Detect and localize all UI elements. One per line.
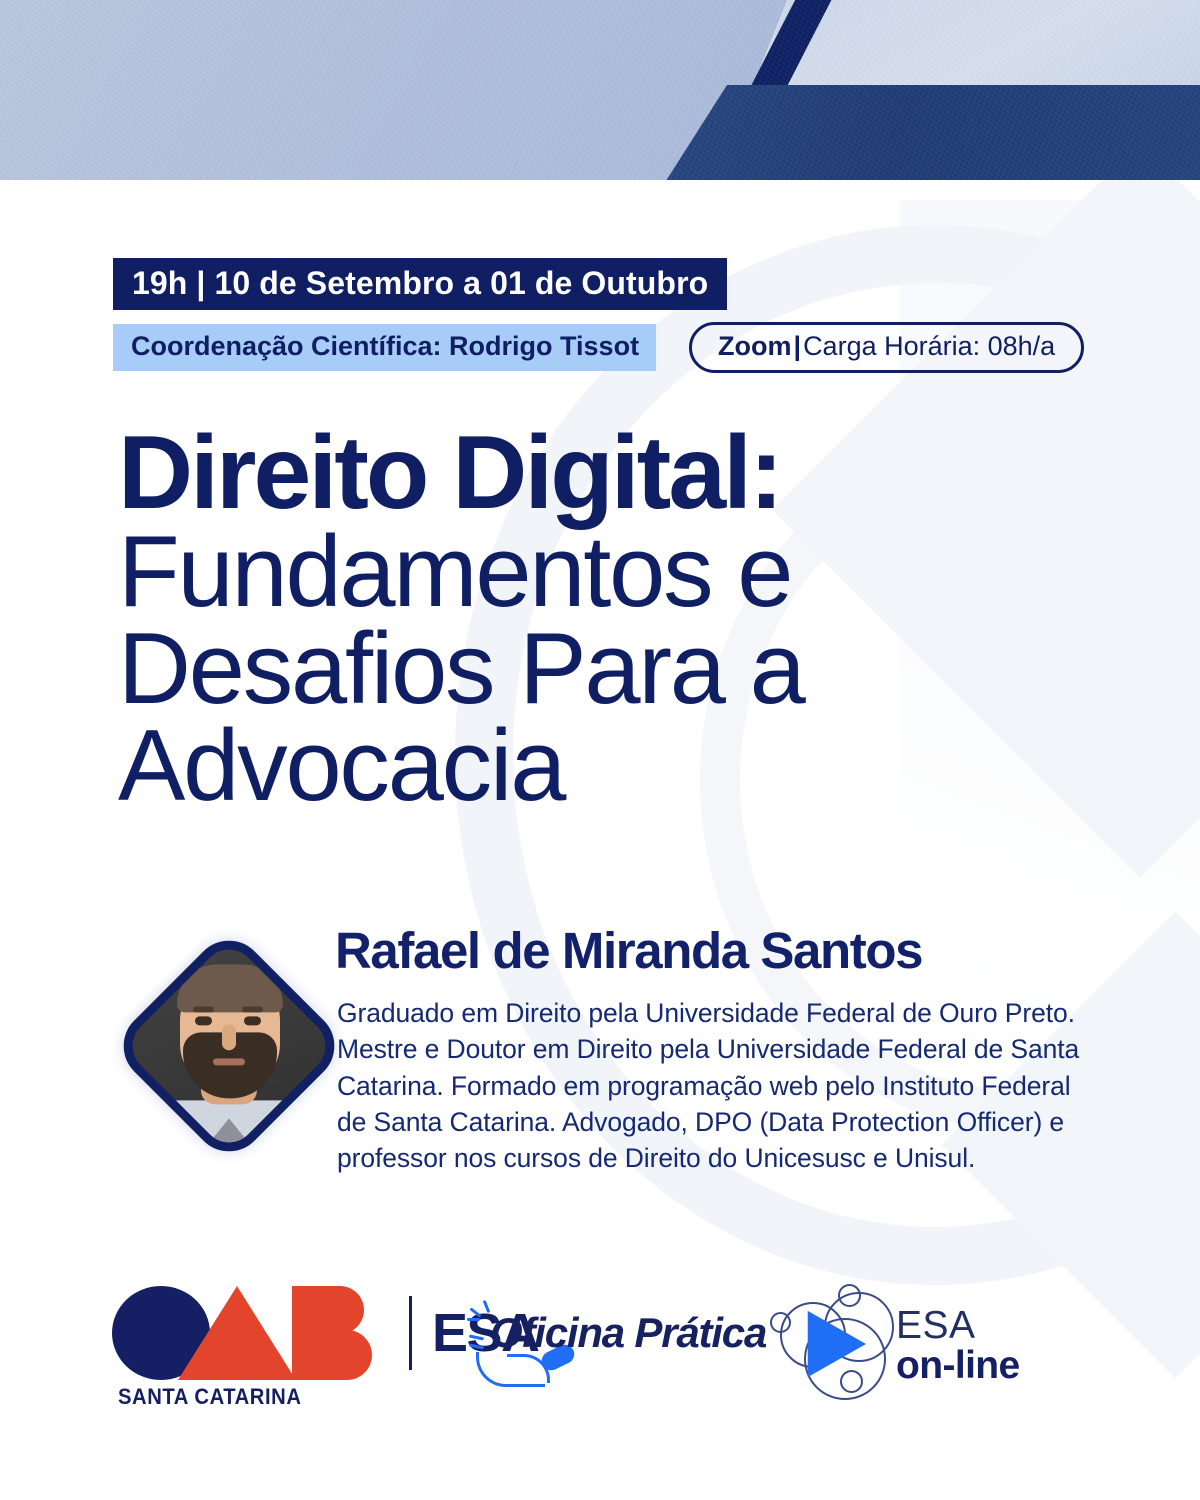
datetime-badge: 19h | 10 de Setembro a 01 de Outubro [113, 258, 727, 310]
title-line-1: Direito Digital: [118, 424, 1118, 524]
avatar-brow-left [193, 1006, 214, 1012]
speaker-bio: Graduado em Direito pela Universidade Fe… [337, 995, 1107, 1176]
event-title: Direito Digital: Fundamentos e Desafios … [118, 424, 1118, 815]
oab-letter-b-bottom-icon [312, 1330, 372, 1380]
oficina-pratica-logo: Oficina Prática [463, 1292, 753, 1392]
avatar-hair [177, 964, 283, 1012]
speaker-name: Rafael de Miranda Santos [335, 925, 922, 976]
workload-label: Carga Horária: 08h/a [803, 331, 1055, 361]
lightbulb-spark-icon [469, 1307, 481, 1317]
event-poster: 19h | 10 de Setembro a 01 de Outubro Coo… [0, 0, 1200, 1500]
avatar-photo [109, 926, 349, 1161]
avatar-mouth [213, 1058, 245, 1065]
oab-section-label: SANTA CATARINA [118, 1384, 301, 1410]
oab-logo: SANTA CATARINA ESA [112, 1284, 422, 1396]
lightbulb-spark-icon [469, 1334, 484, 1340]
avatar-eye-left [195, 1016, 212, 1025]
avatar-brow-right [242, 1006, 263, 1012]
title-line-4: Advocacia [118, 718, 1118, 815]
footer-logos: SANTA CATARINA ESA Oficina Prática [0, 1278, 1200, 1408]
speaker-avatar [122, 939, 317, 1134]
esa-online-line2: on-line [896, 1346, 1020, 1385]
orbit-dot-icon [838, 1284, 861, 1307]
lightbulb-spark-icon [469, 1343, 484, 1349]
coordination-badge: Coordenação Científica: Rodrigo Tissot [113, 324, 656, 371]
avatar-nose [222, 1024, 236, 1050]
logo-divider [409, 1296, 412, 1370]
oficina-pratica-label: Oficina Prática [490, 1312, 766, 1354]
esa-online-line1: ESA [896, 1306, 976, 1345]
platform-badge: Zoom|Carga Horária: 08h/a [689, 322, 1084, 373]
platform-name: Zoom [718, 331, 792, 361]
avatar-eye-right [244, 1016, 261, 1025]
oab-letter-b-top-icon [312, 1286, 364, 1334]
title-line-2: Fundamentos e [118, 524, 1118, 621]
esa-online-logo: ESA on-line [768, 1284, 1028, 1400]
title-line-3: Desafios Para a [118, 621, 1118, 718]
orbit-dot-icon [770, 1312, 791, 1333]
orbit-dot-icon [840, 1370, 863, 1393]
speaker-section: Rafael de Miranda Santos Graduado em Dir… [0, 925, 1200, 1225]
lightbulb-spark-icon [467, 1318, 480, 1321]
poster-content: 19h | 10 de Setembro a 01 de Outubro Coo… [0, 0, 1200, 1500]
platform-separator: | [792, 331, 804, 361]
avatar-diamond-frame [109, 926, 349, 1166]
